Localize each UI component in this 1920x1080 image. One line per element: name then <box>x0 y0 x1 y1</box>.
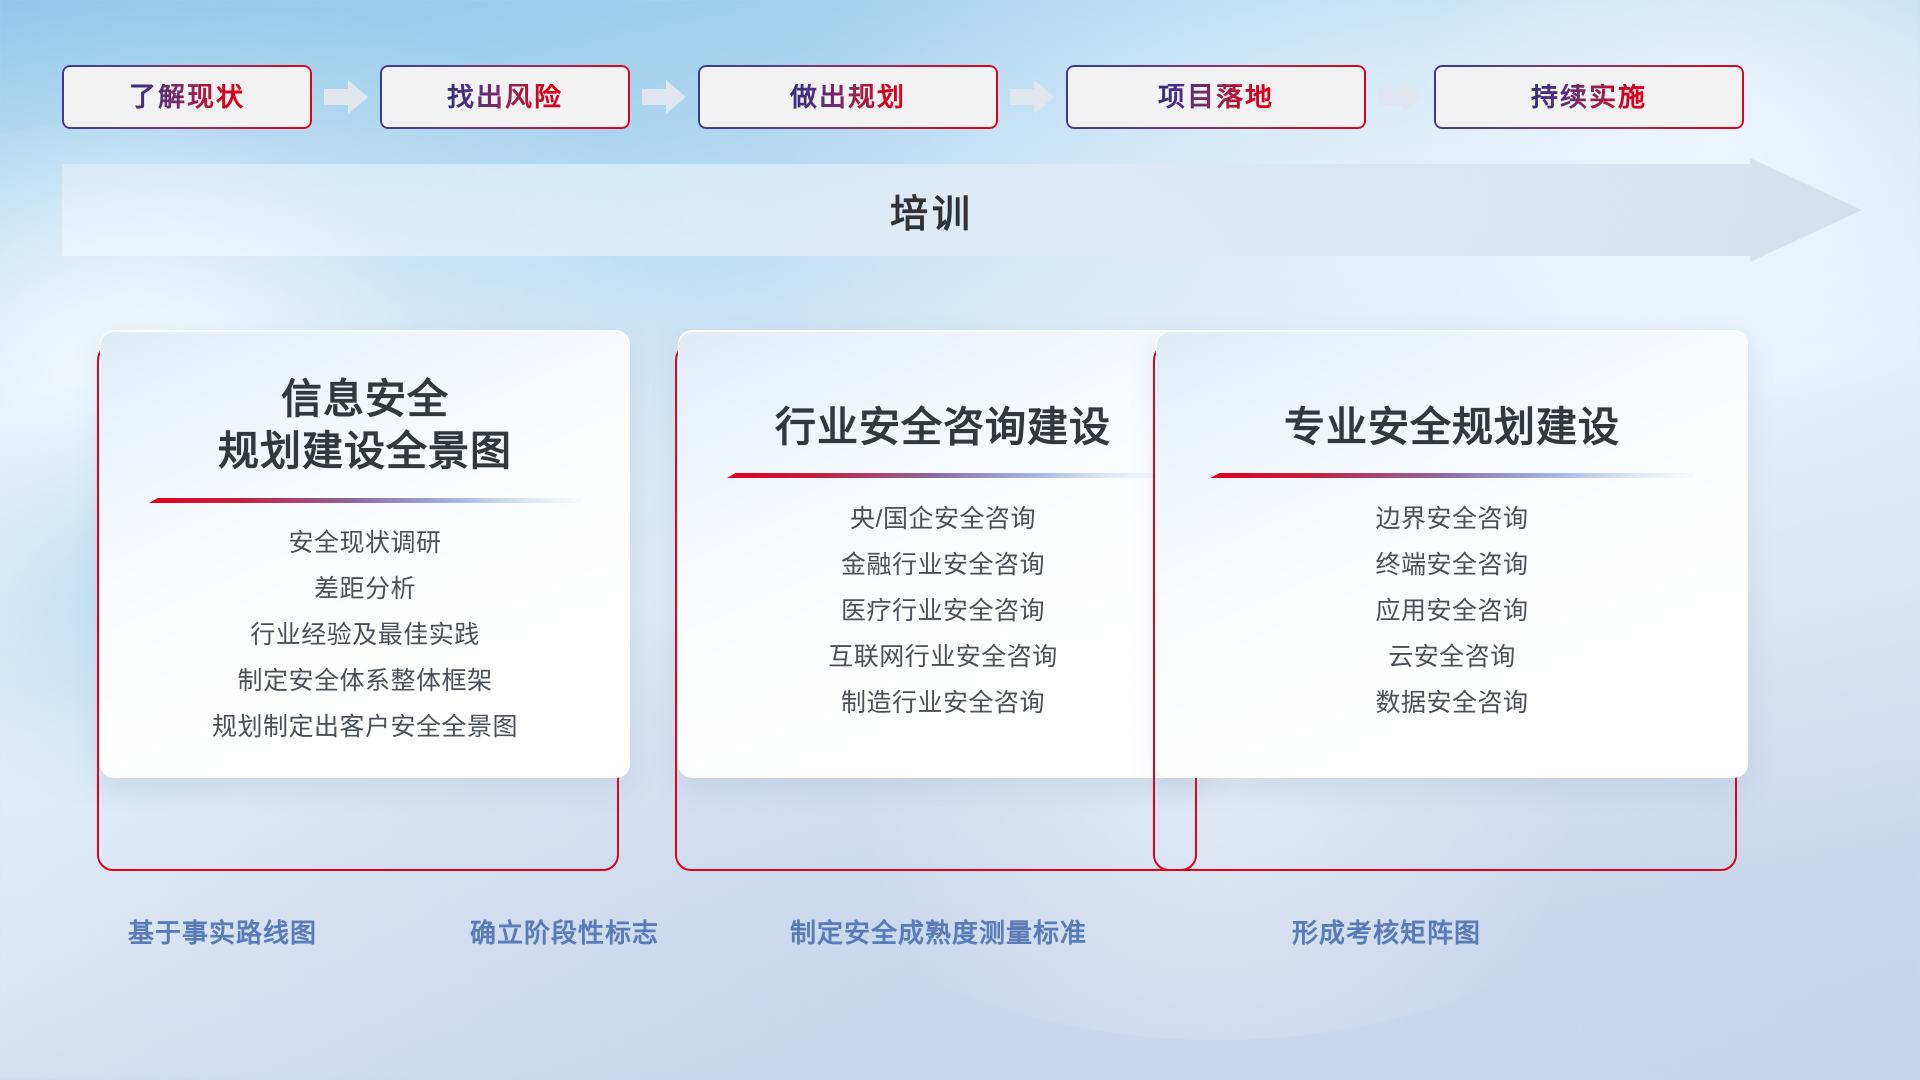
step-item-4[interactable]: 项目落地 <box>1066 65 1366 129</box>
step-label: 了解现状 <box>121 84 253 111</box>
card-2[interactable]: 行业安全咨询建设 央/国企安全咨询 <box>678 330 1208 850</box>
list-item: 差距分析 <box>101 567 629 613</box>
card-divider <box>1210 473 1694 480</box>
list-item: 行业经验及最佳实践 <box>101 613 629 659</box>
step-item-1[interactable]: 了解现状 <box>62 65 312 129</box>
card-title: 专业安全规划建设 <box>1266 401 1638 453</box>
card-1[interactable]: 信息安全 规划建设全景图 安全现状调研 <box>100 330 630 850</box>
list-item: 云安全咨询 <box>1157 634 1747 680</box>
caption-row: 基于事实路线图 确立阶段性标志 制定安全成熟度测量标准 形成考核矩阵图 <box>0 920 1920 970</box>
list-item: 央/国企安全咨询 <box>679 496 1207 542</box>
card-item-list: 边界安全咨询 终端安全咨询 应用安全咨询 云安全咨询 数据安全咨询 <box>1157 496 1747 726</box>
list-item: 规划制定出客户安全全景图 <box>101 705 629 751</box>
card-title: 行业安全咨询建设 <box>757 401 1129 453</box>
caption-4: 形成考核矩阵图 <box>1292 920 1481 946</box>
list-item: 应用安全咨询 <box>1157 588 1747 634</box>
list-item: 终端安全咨询 <box>1157 542 1747 588</box>
card-divider <box>149 498 582 505</box>
list-item: 互联网行业安全咨询 <box>679 634 1207 680</box>
card-panel[interactable]: 信息安全 规划建设全景图 安全现状调研 <box>100 330 630 778</box>
list-item: 安全现状调研 <box>101 521 629 567</box>
card-3[interactable]: 专业安全规划建设 边界安全咨询 <box>1156 330 1748 850</box>
card-panel[interactable]: 行业安全咨询建设 央/国企安全咨询 <box>678 330 1208 778</box>
caption-2: 确立阶段性标志 <box>470 920 659 946</box>
card-item-list: 央/国企安全咨询 金融行业安全咨询 医疗行业安全咨询 互联网行业安全咨询 制造行… <box>679 496 1207 726</box>
card-title: 信息安全 规划建设全景图 <box>200 373 530 478</box>
list-item: 制造行业安全咨询 <box>679 680 1207 726</box>
step-item-5[interactable]: 持续实施 <box>1434 65 1744 129</box>
card-divider <box>727 473 1160 480</box>
card-panel[interactable]: 专业安全规划建设 边界安全咨询 <box>1156 330 1748 778</box>
step-label: 找出风险 <box>439 84 571 111</box>
card-group: 信息安全 规划建设全景图 安全现状调研 <box>100 330 1836 850</box>
card-item-list: 安全现状调研 差距分析 行业经验及最佳实践 制定安全体系整体框架 规划制定出客户… <box>101 521 629 751</box>
chevron-right-icon <box>324 80 368 114</box>
list-item: 数据安全咨询 <box>1157 680 1747 726</box>
chevron-right-icon <box>642 80 686 114</box>
list-item: 制定安全体系整体框架 <box>101 659 629 705</box>
process-step-flow: 了解现状 找出风险 做出规划 项目落地 持续实施 <box>62 64 1862 130</box>
chevron-right-icon <box>1010 80 1054 114</box>
list-item: 边界安全咨询 <box>1157 496 1747 542</box>
list-item: 金融行业安全咨询 <box>679 542 1207 588</box>
chevron-right-icon <box>1378 80 1422 114</box>
step-item-3[interactable]: 做出规划 <box>698 65 998 129</box>
caption-1: 基于事实路线图 <box>128 920 317 946</box>
caption-3: 制定安全成熟度测量标准 <box>790 920 1087 946</box>
step-label: 做出规划 <box>782 84 914 111</box>
step-label: 项目落地 <box>1150 84 1282 111</box>
step-item-2[interactable]: 找出风险 <box>380 65 630 129</box>
banner-title: 培训 <box>62 158 1862 262</box>
list-item: 医疗行业安全咨询 <box>679 588 1207 634</box>
training-banner: 培训 <box>62 158 1862 262</box>
step-label: 持续实施 <box>1523 84 1655 111</box>
